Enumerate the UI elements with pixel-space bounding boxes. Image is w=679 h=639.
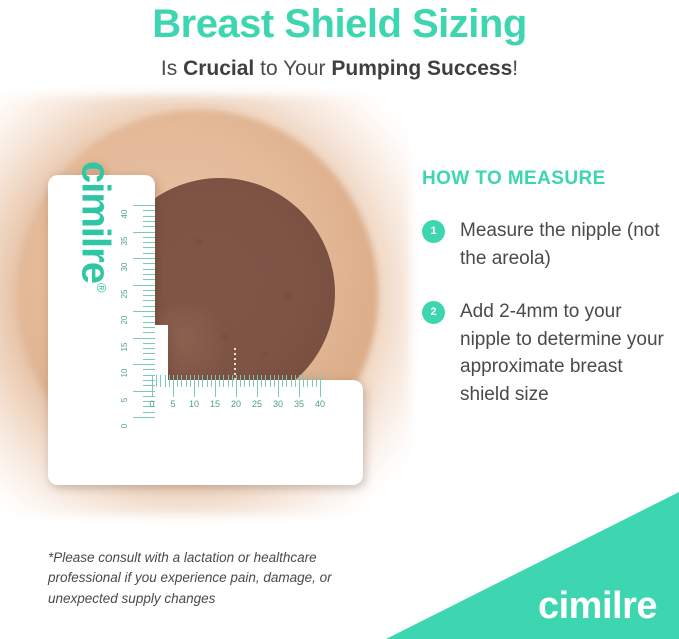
header: Breast Shield Sizing Is Crucial to Your …	[0, 0, 679, 100]
ruler-label-vertical: 10	[121, 364, 129, 382]
ruler-tick-minor	[232, 375, 233, 387]
ruler-tick-minor	[143, 295, 155, 296]
ruler-tick-minor	[190, 375, 191, 387]
ruler-tick-minor	[156, 375, 157, 387]
ruler-tick-minor	[143, 300, 155, 301]
ruler-tick-minor	[274, 375, 275, 387]
ruler-tick-minor	[307, 375, 308, 387]
ruler-tick-minor	[177, 375, 178, 387]
ruler-tick-minor	[143, 348, 155, 349]
ruler-tick-minor	[261, 375, 262, 387]
ruler-tick-minor	[143, 322, 155, 323]
ruler-tick-major	[133, 417, 155, 418]
measure-step: 2 Add 2-4mm to your nipple to determine …	[422, 298, 672, 408]
step-text: Measure the nipple (not the areola)	[460, 217, 672, 272]
ruler-label-horizontal: 30	[269, 399, 287, 409]
ruler-tick-minor	[143, 327, 155, 328]
how-to-measure-title: HOW TO MEASURE	[422, 168, 672, 190]
ruler-label-vertical: 25	[121, 285, 129, 303]
ruler-tick-minor	[143, 274, 155, 275]
ruler-tick-minor	[143, 332, 155, 333]
ruler-tick-minor	[143, 269, 155, 270]
subtitle-emphasis: Pumping Success	[331, 57, 512, 80]
ruler-tick-major	[133, 311, 155, 312]
ruler-label-horizontal: 0	[143, 399, 161, 409]
ruler-tick-minor	[165, 375, 166, 387]
ruler-label-vertical: 35	[121, 232, 129, 250]
ruler-tick-minor	[181, 375, 182, 387]
ruler-label-vertical: 15	[121, 338, 129, 356]
ruler-tick-minor	[270, 375, 271, 387]
ruler-label-horizontal: 35	[290, 399, 308, 409]
ruler-tick-major	[299, 375, 300, 397]
subtitle-text: !	[512, 57, 518, 80]
step-number-badge: 2	[422, 301, 445, 324]
ruler-tick-minor	[253, 375, 254, 387]
ruler-tick-minor	[228, 375, 229, 387]
ruler-tick-minor	[143, 306, 155, 307]
page-title: Breast Shield Sizing	[0, 0, 679, 44]
ruler-tick-minor	[244, 375, 245, 387]
ruler-tick-minor	[286, 375, 287, 387]
ruler-label-horizontal: 15	[206, 399, 224, 409]
step-number-badge: 1	[422, 220, 445, 243]
ruler-tick-minor	[240, 375, 241, 387]
ruler-tick-minor	[143, 237, 155, 238]
ruler-tick-major	[173, 375, 174, 397]
ruler-tick-minor	[291, 375, 292, 387]
ruler-tick-major	[133, 205, 155, 206]
ruler-tick-major	[133, 258, 155, 259]
ruler-tick-minor	[207, 375, 208, 387]
ruler-label-vertical: 20	[121, 311, 129, 329]
ruler-tick-minor	[295, 375, 296, 387]
ruler-tick-minor	[143, 247, 155, 248]
ruler-tick-major	[152, 375, 153, 397]
ruler-tick-minor	[143, 221, 155, 222]
ruler-tick-minor	[312, 375, 313, 387]
subtitle-emphasis: Crucial	[183, 57, 254, 80]
ruler-tick-minor	[316, 375, 317, 387]
horizontal-ruler: 0510152025303540	[152, 375, 374, 417]
ruler-tick-minor	[265, 375, 266, 387]
ruler-label-vertical: 5	[121, 391, 129, 409]
ruler-tick-major	[133, 338, 155, 339]
ruler-tick-major	[133, 285, 155, 286]
subtitle-text: Is	[161, 57, 183, 80]
ruler-label-horizontal: 5	[164, 399, 182, 409]
ruler-tick-minor	[143, 226, 155, 227]
measure-step: 1 Measure the nipple (not the areola)	[422, 217, 672, 272]
ruler-tick-minor	[169, 375, 170, 387]
ruler-tick-minor	[143, 343, 155, 344]
ruler-tick-minor	[186, 375, 187, 387]
ruler-label-vertical: 30	[121, 258, 129, 276]
vertical-ruler: 0510152025303540	[105, 205, 155, 417]
ruler-label-vertical: 0	[121, 417, 129, 435]
ruler-tick-minor	[143, 359, 155, 360]
ruler-tick-minor	[202, 375, 203, 387]
ruler-tick-major	[257, 375, 258, 397]
ruler-label-horizontal: 20	[227, 399, 245, 409]
ruler-tick-minor	[143, 242, 155, 243]
brand-wordmark: cimilre	[538, 587, 657, 625]
ruler-tick-minor	[143, 210, 155, 211]
step-text: Add 2-4mm to your nipple to determine yo…	[460, 298, 672, 408]
ruler-tick-major	[236, 375, 237, 397]
ruler-tick-major	[133, 232, 155, 233]
footnote-disclaimer: *Please consult with a lactation or heal…	[48, 548, 388, 609]
ruler-label-horizontal: 40	[311, 399, 329, 409]
ruler-tick-major	[278, 375, 279, 397]
ruler-tick-minor	[219, 375, 220, 387]
ruler-card: cimilre® 0510152025303540 05101520253035…	[48, 175, 363, 485]
ruler-tick-minor	[143, 290, 155, 291]
ruler-tick-minor	[282, 375, 283, 387]
ruler-tick-minor	[303, 375, 304, 387]
ruler-label-horizontal: 25	[248, 399, 266, 409]
ruler-tick-minor	[223, 375, 224, 387]
ruler-tick-major	[215, 375, 216, 397]
subtitle-text: to Your	[254, 57, 331, 80]
ruler-label-vertical: 40	[121, 205, 129, 223]
ruler-tick-minor	[143, 316, 155, 317]
ruler-label-horizontal: 10	[185, 399, 203, 409]
page-subtitle: Is Crucial to Your Pumping Success!	[0, 56, 679, 81]
ruler-tick-minor	[143, 263, 155, 264]
ruler-tick-minor	[198, 375, 199, 387]
ruler-tick-minor	[143, 369, 155, 370]
ruler-tick-major	[194, 375, 195, 397]
ruler-tick-minor	[143, 253, 155, 254]
how-to-measure-panel: HOW TO MEASURE 1 Measure the nipple (not…	[422, 168, 672, 434]
ruler-tick-minor	[249, 375, 250, 387]
ruler-tick-minor	[160, 375, 161, 387]
ruler-tick-minor	[143, 353, 155, 354]
ruler-tick-major	[320, 375, 321, 397]
ruler-tick-minor	[143, 216, 155, 217]
ruler-tick-minor	[211, 375, 212, 387]
ruler-tick-minor	[143, 279, 155, 280]
ruler-tick-major	[133, 364, 155, 365]
